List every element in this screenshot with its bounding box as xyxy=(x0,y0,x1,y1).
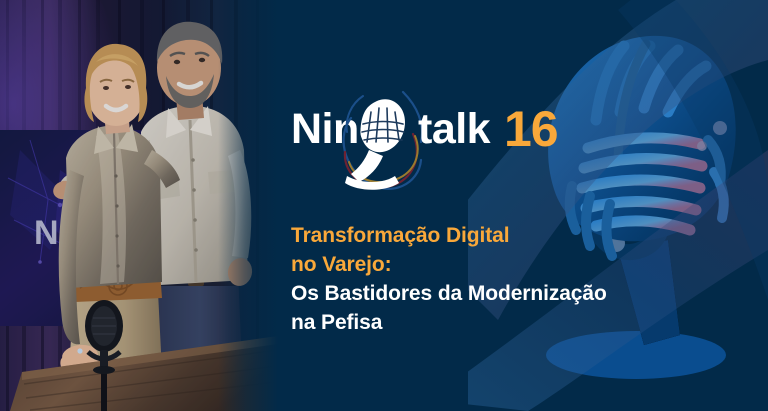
episode-title: Transformação Digital no Varejo: Os Bast… xyxy=(291,221,691,337)
title-line-1: Transformação Digital xyxy=(291,221,691,250)
logo-word-talk: talk xyxy=(418,108,490,151)
title-line-2: no Varejo: xyxy=(291,250,691,279)
ninetalk-episode-banner: N xyxy=(0,0,768,411)
large-microphone-silhouette xyxy=(468,0,768,411)
ninetalk-logo: Nine ta xyxy=(291,100,591,172)
title-line-3: Os Bastidores da Modernização xyxy=(291,279,691,308)
title-line-4: na Pefisa xyxy=(291,308,691,337)
vintage-microphone-icon xyxy=(333,90,429,195)
hosts-studio-photo: N xyxy=(0,0,278,411)
photo-edge-fade xyxy=(218,0,278,411)
episode-number: 16 xyxy=(504,104,558,154)
